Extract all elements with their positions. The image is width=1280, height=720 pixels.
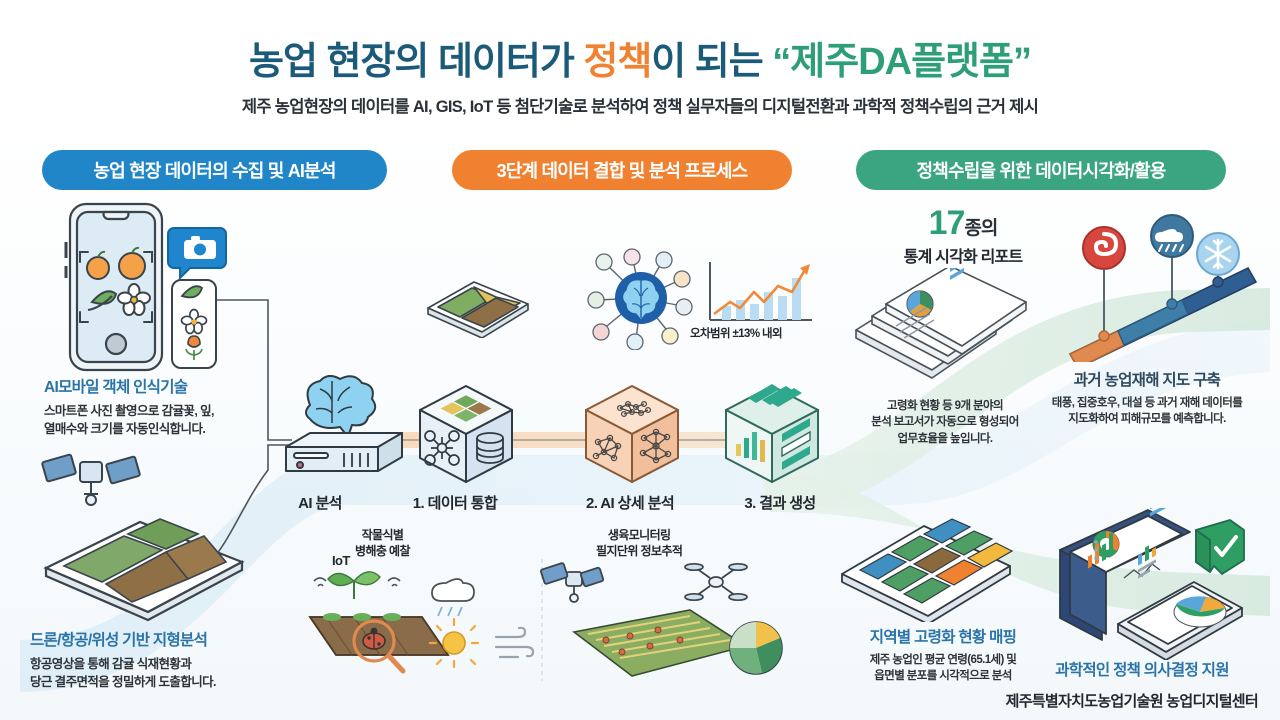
section-pill-process[interactable]: 3단계 데이터 결합 및 분석 프로세스 (452, 150, 792, 190)
infographic-canvas: 농업 현장의 데이터가 정책이 되는 “제주DA플랫폼” 제주 농업현장의 데이… (0, 0, 1280, 720)
page-title: 농업 현장의 데이터가 정책이 되는 “제주DA플랫폼” (0, 30, 1280, 85)
caption-mobile-recognition: AI모바일 객체 인식기술 스마트폰 사진 촬영으로 감귤꽃, 잎, 열매수와 … (44, 375, 214, 438)
crop-label-line2: 병해충 예찰 (355, 544, 410, 560)
cube-data-integration (412, 382, 520, 486)
step-label-result: 3. 결과 생성 (700, 492, 860, 513)
satellite-icon (540, 563, 603, 602)
wind-icon (496, 628, 533, 657)
caption-mobile-line1: 스마트폰 사진 촬영으로 감귤꽃, 잎, (44, 402, 214, 420)
caption-drone-line1: 항공영상을 통해 감귤 식재현황과 (30, 655, 216, 673)
iot-label: IoT (332, 553, 350, 570)
disaster-timeline-illustration (1068, 212, 1268, 362)
title-part-1: 농업 현장의 데이터가 (249, 41, 583, 83)
section-pill-visualize[interactable]: 정책수립을 위한 데이터시각화/활용 (856, 150, 1226, 190)
rain-cloud-icon (432, 579, 474, 616)
drone-icon (685, 564, 747, 600)
step-label-integrate: 1. 데이터 통합 (375, 492, 535, 513)
growth-label-line1: 생육모니터링 (596, 528, 682, 544)
step-label-ai: AI 분석 (255, 492, 385, 513)
report-count-number: 17 (929, 204, 965, 242)
title-part-4: “제주DA플랫폼” (772, 41, 1031, 83)
cube-ai-analysis (578, 382, 686, 486)
typhoon-icon (1083, 227, 1125, 269)
report-stack-illustration (846, 268, 1036, 398)
iot-field-illustration (296, 555, 546, 685)
caption-report-line3: 업무효율을 높입니다. (820, 431, 1070, 447)
crop-identification-label: 작물식별 병해충 예찰 (355, 528, 410, 559)
error-range-label: 오차범위 ±13% 내외 (690, 327, 782, 342)
growth-monitoring-label: 생육모니터링 필지단위 정보추적 (596, 528, 682, 559)
caption-decision-heading: 과학적인 정책 의사결정 지원 (1012, 658, 1272, 680)
pie-chart-glyph (730, 622, 782, 674)
timeline-bar (1070, 268, 1256, 362)
map-tiles-illustration (424, 272, 532, 338)
caption-mobile-heading: AI모바일 객체 인식기술 (44, 375, 214, 397)
caption-drone-terrain: 드론/항공/위성 기반 지형분석 항공영상을 통해 감귤 식재현황과 당근 결주… (30, 628, 216, 691)
camera-icon (168, 228, 226, 278)
section-pill-collect[interactable]: 농업 현장 데이터의 수집 및 AI분석 (42, 150, 387, 190)
field-rows (574, 610, 746, 676)
caption-decision-support: 과학적인 정책 의사결정 지원 (1012, 658, 1272, 685)
caption-disaster-map: 과거 농업재해 지도 구축 태풍, 집중호우, 대설 등 과거 재해 데이터를 … (1022, 368, 1272, 428)
footer-organization: 제주특별자치도농업기술원 농업디지털센터 (0, 690, 1280, 711)
smartphone-recognition-illustration (58, 198, 248, 378)
growth-monitoring-illustration (540, 548, 800, 688)
brain-icon (306, 376, 375, 437)
tablet-pie-chart (1174, 596, 1226, 627)
ai-server-node (280, 375, 410, 485)
title-part-2: 정책 (583, 41, 651, 83)
title-part-3: 이 되는 (651, 41, 772, 83)
rain-cloud-icon (1151, 215, 1193, 257)
ai-brain-hub-illustration (586, 246, 696, 350)
check-badge-icon (1196, 520, 1244, 574)
report-count-subtitle: 통계 시각화 리포트 (848, 243, 1078, 267)
caption-disaster-line1: 태풍, 집중호우, 대설 등 과거 재해 데이터를 (1022, 395, 1272, 411)
satellite-terrain-illustration (28, 450, 258, 625)
farmland-plate (46, 519, 242, 620)
step-label-analyze: 2. AI 상세 분석 (545, 492, 715, 513)
server-box (286, 433, 402, 471)
seedling-icon (328, 572, 380, 599)
caption-drone-line2: 당근 결주면적을 정밀하게 도출합니다. (30, 673, 216, 691)
satellite-icon (42, 454, 140, 505)
growth-label-line2: 필지단위 정보추적 (596, 544, 682, 560)
caption-drone-heading: 드론/항공/위성 기반 지형분석 (30, 628, 216, 650)
aging-map-grid-illustration (836, 512, 1016, 622)
snowflake-icon (1197, 233, 1239, 275)
dashboard-devices-illustration (1030, 508, 1260, 660)
caption-disaster-heading: 과거 농업재해 지도 구축 (1022, 368, 1272, 390)
cube-result-generation (718, 382, 826, 486)
report-count-suffix: 종의 (964, 218, 997, 239)
caption-disaster-line2: 지도화하여 피해규모를 예측합니다. (1022, 411, 1272, 427)
recognition-result-panel (172, 280, 216, 368)
caption-mobile-line2: 열매수와 크기를 자동인식합니다. (44, 420, 214, 438)
trend-chart-illustration (700, 258, 822, 330)
page-subtitle: 제주 농업현장의 데이터를 AI, GIS, IoT 등 첨단기술로 분석하여 … (0, 93, 1280, 117)
crop-label-line1: 작물식별 (355, 528, 410, 544)
report-count-headline: 17종의 통계 시각화 리포트 (848, 206, 1078, 267)
